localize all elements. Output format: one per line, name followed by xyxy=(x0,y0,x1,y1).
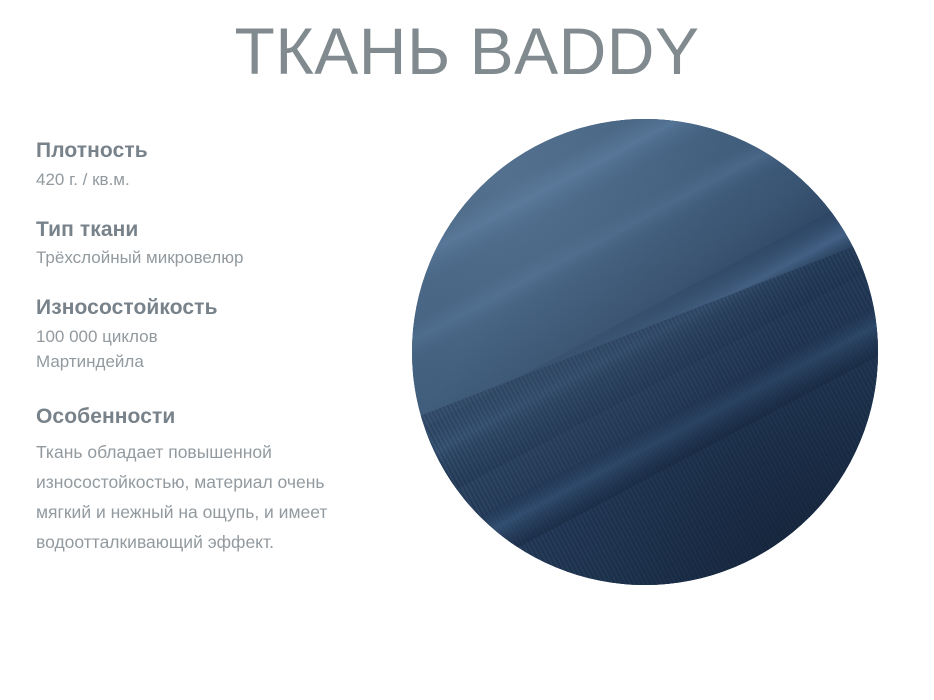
fabric-swatch-image xyxy=(412,119,878,585)
spec-heading-density: Плотность xyxy=(36,138,396,165)
spec-heading-features: Особенности xyxy=(36,404,396,431)
spec-value-fabric-type: Трёхслойный микровелюр xyxy=(36,246,396,271)
specifications-list: Плотность 420 г. / кв.м. Тип ткани Трёхс… xyxy=(36,138,396,557)
slide-root: ТКАНЬ BADDY Плотность 420 г. / кв.м. Тип… xyxy=(0,0,934,700)
spec-block-density: Плотность 420 г. / кв.м. xyxy=(36,138,396,193)
spec-value-features: Ткань обладает повышенной износостойкост… xyxy=(36,437,381,557)
spec-block-features: Особенности Ткань обладает повышенной из… xyxy=(36,404,396,557)
spec-heading-fabric-type: Тип ткани xyxy=(36,217,396,244)
fabric-texture-graphic xyxy=(412,119,878,585)
page-title: ТКАНЬ BADDY xyxy=(0,10,934,93)
spec-block-fabric-type: Тип ткани Трёхслойный микровелюр xyxy=(36,217,396,272)
spec-value-density: 420 г. / кв.м. xyxy=(36,168,396,193)
spec-heading-durability: Износостойкость xyxy=(36,295,396,322)
spec-block-durability: Износостойкость 100 000 циклов Мартиндей… xyxy=(36,295,396,374)
spec-value-durability: 100 000 циклов Мартиндейла xyxy=(36,325,396,374)
